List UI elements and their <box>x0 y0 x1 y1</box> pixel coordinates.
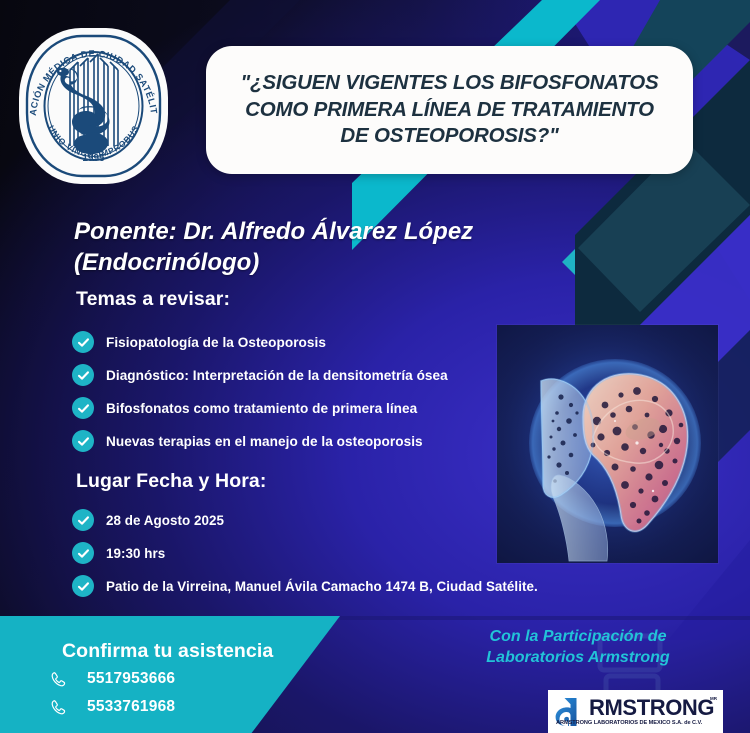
armstrong-trademark: MR <box>710 696 717 701</box>
phone-number[interactable]: 5533761968 <box>87 698 175 716</box>
list-item: Diagnóstico: Interpretación de la densit… <box>72 363 448 387</box>
check-icon <box>72 331 94 353</box>
poster-canvas: ASOCIACIÓN MÉDICA DE CIUDAD SATÉLITE, A.… <box>0 0 750 733</box>
list-item-label: Bifosfonatos como tratamiento de primera… <box>106 401 417 416</box>
check-icon <box>72 575 94 597</box>
bone-illustration-svg <box>497 325 718 563</box>
rsvp-heading: Confirma tu asistencia <box>62 640 273 663</box>
list-item-label: Nuevas terapias en el manejo de la osteo… <box>106 434 423 449</box>
list-item: 28 de Agosto 2025 <box>72 508 538 532</box>
event-time: 19:30 hrs <box>106 546 165 561</box>
logo-year: 1995 <box>82 153 105 164</box>
association-logo: ASOCIACIÓN MÉDICA DE CIUDAD SATÉLITE, A.… <box>16 22 171 190</box>
check-icon <box>72 397 94 419</box>
sponsor-credit: Con la Participación de Laboratorios Arm… <box>428 626 728 668</box>
event-address: Patio de la Virreina, Manuel Ávila Camac… <box>106 579 538 594</box>
osteoporosis-bone-illustration <box>497 325 718 563</box>
phone-row[interactable]: 5517953666 <box>50 670 175 688</box>
speaker-name: Ponente: Dr. Alfredo Álvarez López (Endo… <box>74 216 504 278</box>
title-banner: "¿SIGUEN VIGENTES LOS BIFOSFONATOS COMO … <box>206 46 693 174</box>
phone-icon <box>50 671 67 688</box>
armstrong-wordmark: RMSTRONG <box>589 697 714 719</box>
phone-number[interactable]: 5517953666 <box>87 670 175 688</box>
armstrong-tagline: ARMSTRONG LABORATORIOS DE MEXICO S.A. de… <box>556 721 714 727</box>
venue-list: 28 de Agosto 2025 19:30 hrs Patio de la … <box>72 508 538 607</box>
list-item: 19:30 hrs <box>72 541 538 565</box>
association-logo-svg: ASOCIACIÓN MÉDICA DE CIUDAD SATÉLITE, A.… <box>16 22 171 190</box>
page-title: "¿SIGUEN VIGENTES LOS BIFOSFONATOS COMO … <box>227 70 673 150</box>
list-item: Bifosfonatos como tratamiento de primera… <box>72 396 448 420</box>
check-icon <box>72 509 94 531</box>
event-date: 28 de Agosto 2025 <box>106 513 224 528</box>
list-item: Patio de la Virreina, Manuel Ávila Camac… <box>72 574 538 598</box>
list-item: Fisiopatología de la Osteoporosis <box>72 330 448 354</box>
check-icon <box>72 430 94 452</box>
venue-heading: Lugar Fecha y Hora: <box>76 470 266 493</box>
check-icon <box>72 364 94 386</box>
list-item-label: Fisiopatología de la Osteoporosis <box>106 335 326 350</box>
armstrong-logo: RMSTRONG ARMSTRONG LABORATORIOS DE MEXIC… <box>548 690 723 733</box>
phone-row[interactable]: 5533761968 <box>50 698 175 716</box>
topics-list: Fisiopatología de la Osteoporosis Diagnó… <box>72 330 448 462</box>
list-item-label: Diagnóstico: Interpretación de la densit… <box>106 368 448 383</box>
list-item: Nuevas terapias en el manejo de la osteo… <box>72 429 448 453</box>
check-icon <box>72 542 94 564</box>
topics-heading: Temas a revisar: <box>76 288 230 311</box>
phone-icon <box>50 699 67 716</box>
